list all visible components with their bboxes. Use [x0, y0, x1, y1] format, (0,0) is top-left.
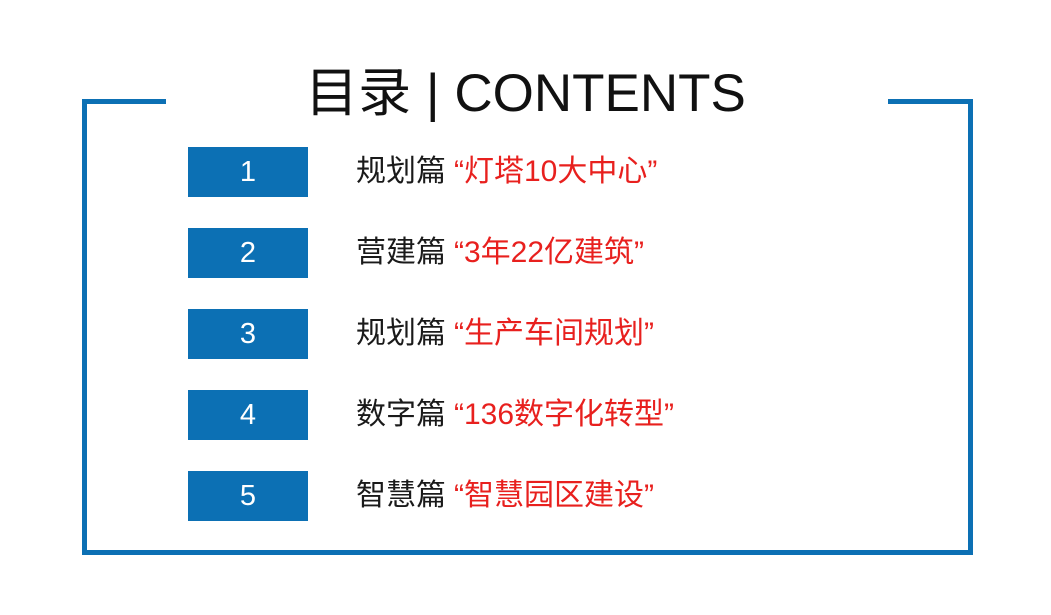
toc-section-title: “136数字化转型”	[454, 390, 674, 440]
toc-section-label: 营建篇	[356, 228, 446, 278]
toc-number-badge: 3	[188, 309, 308, 359]
toc-number-badge: 2	[188, 228, 308, 278]
contents-list: 1 规划篇 “灯塔10大中心” 2 营建篇 “3年22亿建筑” 3 规划篇 “生…	[188, 147, 888, 521]
page-title: 目录 | CONTENTS	[0, 62, 1051, 126]
toc-row-text: 规划篇 “生产车间规划”	[356, 309, 654, 359]
toc-section-title: “3年22亿建筑”	[454, 228, 644, 278]
contents-slide: 目录 | CONTENTS 1 规划篇 “灯塔10大中心” 2 营建篇 “3年2…	[0, 0, 1051, 615]
toc-number-badge: 1	[188, 147, 308, 197]
toc-section-title: “灯塔10大中心”	[454, 147, 657, 197]
toc-number-badge: 4	[188, 390, 308, 440]
list-item[interactable]: 2 营建篇 “3年22亿建筑”	[188, 228, 888, 278]
frame-bottom-segment	[82, 550, 973, 555]
toc-row-text: 营建篇 “3年22亿建筑”	[356, 228, 644, 278]
toc-section-label: 规划篇	[356, 309, 446, 359]
toc-section-label: 智慧篇	[356, 471, 446, 521]
toc-section-label: 规划篇	[356, 147, 446, 197]
frame-right-segment	[968, 99, 973, 555]
toc-number-badge: 5	[188, 471, 308, 521]
toc-row-text: 规划篇 “灯塔10大中心”	[356, 147, 657, 197]
list-item[interactable]: 5 智慧篇 “智慧园区建设”	[188, 471, 888, 521]
toc-section-title: “智慧园区建设”	[454, 471, 654, 521]
toc-row-text: 智慧篇 “智慧园区建设”	[356, 471, 654, 521]
list-item[interactable]: 3 规划篇 “生产车间规划”	[188, 309, 888, 359]
toc-section-label: 数字篇	[356, 390, 446, 440]
frame-left-segment	[82, 99, 87, 555]
list-item[interactable]: 4 数字篇 “136数字化转型”	[188, 390, 888, 440]
list-item[interactable]: 1 规划篇 “灯塔10大中心”	[188, 147, 888, 197]
toc-row-text: 数字篇 “136数字化转型”	[356, 390, 674, 440]
toc-section-title: “生产车间规划”	[454, 309, 654, 359]
